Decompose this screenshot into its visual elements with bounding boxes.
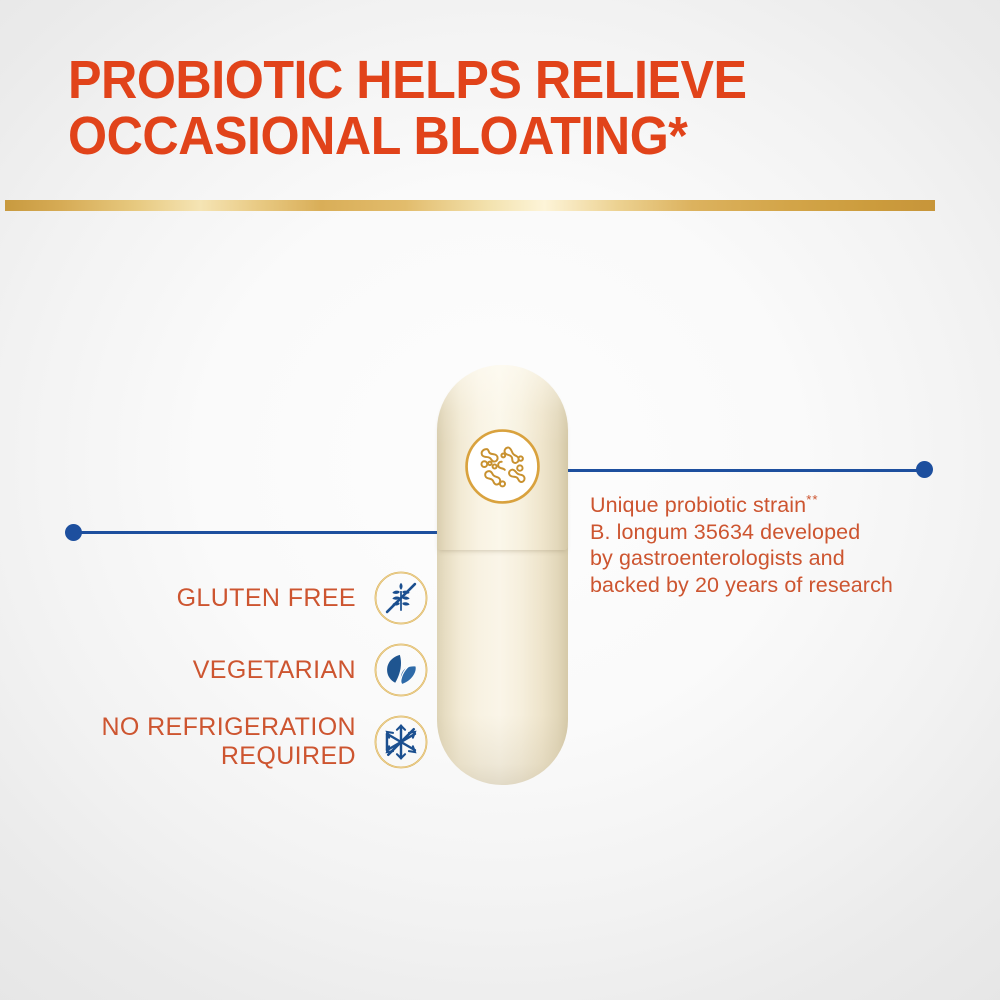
capsule-body [437, 537, 568, 785]
wheat-crossed-icon [372, 569, 430, 627]
gold-divider-bar [5, 200, 935, 211]
feature-badge-no-refrigeration: NO REFRIGERATION REQUIRED [40, 706, 430, 778]
callout-line-4: backed by 20 years of research [590, 572, 940, 599]
callout-line-2: B. longum 35634 developed [590, 519, 940, 546]
feature-label-no-refrigeration: NO REFRIGERATION REQUIRED [101, 713, 372, 771]
headline-line-2: OCCASIONAL BLOATING* [68, 108, 886, 164]
page-title: PROBIOTIC HELPS RELIEVE OCCASIONAL BLOAT… [68, 52, 948, 164]
infographic-canvas: PROBIOTIC HELPS RELIEVE OCCASIONAL BLOAT… [0, 0, 1000, 1000]
feature-badge-list: GLUTEN FREE VEGETARIAN [40, 562, 430, 778]
connector-line-right [545, 469, 925, 472]
callout-footnote-marker: ** [806, 492, 818, 507]
probiotic-capsule [437, 365, 568, 785]
feature-label-gluten-free: GLUTEN FREE [177, 584, 372, 613]
headline-line-1: PROBIOTIC HELPS RELIEVE [68, 52, 886, 108]
callout-text-block: Unique probiotic strain** B. longum 3563… [590, 487, 940, 598]
callout-line-1-text: Unique probiotic strain [590, 493, 806, 517]
leaves-icon [372, 641, 430, 699]
callout-line-1: Unique probiotic strain** [590, 487, 940, 519]
connector-dot-right [916, 461, 933, 478]
feature-badge-vegetarian: VEGETARIAN [40, 634, 430, 706]
snowflake-crossed-icon [372, 713, 430, 771]
feature-badge-gluten-free: GLUTEN FREE [40, 562, 430, 634]
feature-label-vegetarian: VEGETARIAN [193, 656, 372, 685]
probiotic-bacteria-icon [463, 427, 542, 506]
callout-line-3: by gastroenterologists and [590, 545, 940, 572]
connector-line-left [80, 531, 440, 534]
